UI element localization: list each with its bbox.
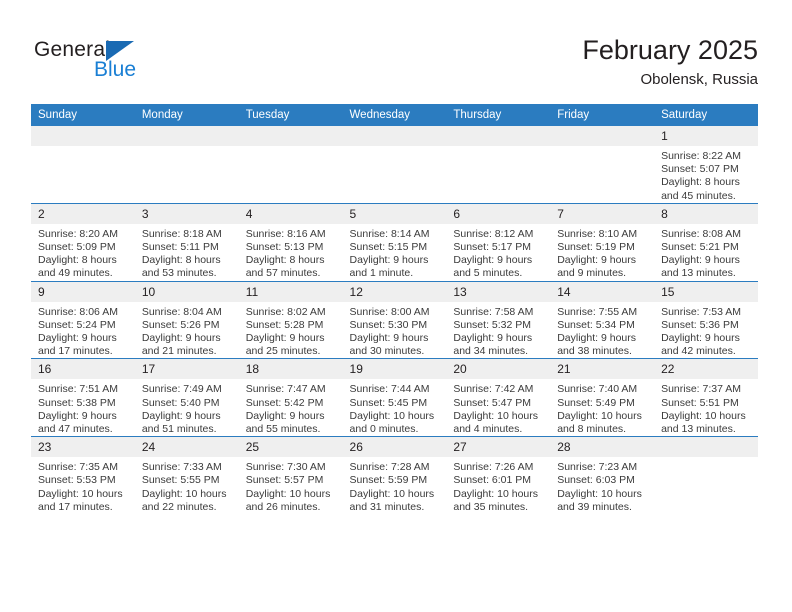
calendar-day-cell[interactable]: 17Sunrise: 7:49 AMSunset: 5:40 PMDayligh… bbox=[135, 359, 239, 437]
calendar-day-cell[interactable]: 20Sunrise: 7:42 AMSunset: 5:47 PMDayligh… bbox=[446, 359, 550, 437]
day-details: Sunrise: 7:58 AMSunset: 5:32 PMDaylight:… bbox=[446, 302, 550, 359]
day-number: 21 bbox=[550, 359, 654, 379]
day-details: Sunrise: 7:44 AMSunset: 5:45 PMDaylight:… bbox=[343, 379, 447, 436]
sunset-text: Sunset: 5:45 PM bbox=[350, 397, 442, 410]
day-number: 1 bbox=[654, 126, 758, 146]
day-number: 17 bbox=[135, 359, 239, 379]
daylight-text-line2: and 21 minutes. bbox=[142, 345, 234, 358]
daylight-text-line1: Daylight: 9 hours bbox=[557, 254, 649, 267]
sunset-text: Sunset: 5:32 PM bbox=[453, 319, 545, 332]
calendar-body: 1Sunrise: 8:22 AMSunset: 5:07 PMDaylight… bbox=[31, 126, 758, 514]
daylight-text-line1: Daylight: 10 hours bbox=[38, 488, 130, 501]
sunset-text: Sunset: 5:51 PM bbox=[661, 397, 753, 410]
daylight-text-line2: and 8 minutes. bbox=[557, 423, 649, 436]
calendar-page: General Blue February 2025 Obolensk, Rus… bbox=[0, 0, 792, 612]
daylight-text-line2: and 13 minutes. bbox=[661, 423, 753, 436]
calendar-day-cell[interactable]: 6Sunrise: 8:12 AMSunset: 5:17 PMDaylight… bbox=[446, 203, 550, 281]
calendar-day-cell[interactable]: 25Sunrise: 7:30 AMSunset: 5:57 PMDayligh… bbox=[239, 437, 343, 514]
sunrise-text: Sunrise: 8:18 AM bbox=[142, 228, 234, 241]
calendar-cell-empty bbox=[135, 126, 239, 203]
weekday-header-saturday: Saturday bbox=[654, 104, 758, 126]
daylight-text-line2: and 9 minutes. bbox=[557, 267, 649, 280]
location-subtitle: Obolensk, Russia bbox=[582, 70, 758, 90]
day-details: Sunrise: 8:20 AMSunset: 5:09 PMDaylight:… bbox=[31, 224, 135, 281]
sunrise-text: Sunrise: 7:55 AM bbox=[557, 306, 649, 319]
day-number: 12 bbox=[343, 282, 447, 302]
daylight-text-line2: and 53 minutes. bbox=[142, 267, 234, 280]
calendar-day-cell[interactable]: 8Sunrise: 8:08 AMSunset: 5:21 PMDaylight… bbox=[654, 203, 758, 281]
day-details: Sunrise: 7:49 AMSunset: 5:40 PMDaylight:… bbox=[135, 379, 239, 436]
calendar-day-cell[interactable]: 11Sunrise: 8:02 AMSunset: 5:28 PMDayligh… bbox=[239, 281, 343, 359]
day-details: Sunrise: 8:16 AMSunset: 5:13 PMDaylight:… bbox=[239, 224, 343, 281]
calendar-cell-empty bbox=[446, 126, 550, 203]
calendar-day-cell[interactable]: 26Sunrise: 7:28 AMSunset: 5:59 PMDayligh… bbox=[343, 437, 447, 514]
weekday-header-friday: Friday bbox=[550, 104, 654, 126]
sunrise-text: Sunrise: 8:04 AM bbox=[142, 306, 234, 319]
calendar-day-cell[interactable]: 18Sunrise: 7:47 AMSunset: 5:42 PMDayligh… bbox=[239, 359, 343, 437]
day-number bbox=[239, 126, 343, 146]
weekday-header-thursday: Thursday bbox=[446, 104, 550, 126]
sunset-text: Sunset: 5:34 PM bbox=[557, 319, 649, 332]
daylight-text-line2: and 30 minutes. bbox=[350, 345, 442, 358]
day-number bbox=[550, 126, 654, 146]
day-number bbox=[654, 437, 758, 457]
day-details: Sunrise: 8:12 AMSunset: 5:17 PMDaylight:… bbox=[446, 224, 550, 281]
daylight-text-line1: Daylight: 9 hours bbox=[661, 254, 753, 267]
sunrise-text: Sunrise: 7:40 AM bbox=[557, 383, 649, 396]
calendar-day-cell[interactable]: 22Sunrise: 7:37 AMSunset: 5:51 PMDayligh… bbox=[654, 359, 758, 437]
calendar-cell-empty bbox=[654, 437, 758, 514]
page-title: February 2025 bbox=[582, 34, 758, 66]
sunset-text: Sunset: 6:01 PM bbox=[453, 474, 545, 487]
daylight-text-line2: and 38 minutes. bbox=[557, 345, 649, 358]
daylight-text-line2: and 26 minutes. bbox=[246, 501, 338, 514]
day-number bbox=[446, 126, 550, 146]
day-number: 3 bbox=[135, 204, 239, 224]
daylight-text-line1: Daylight: 9 hours bbox=[142, 332, 234, 345]
day-details: Sunrise: 7:40 AMSunset: 5:49 PMDaylight:… bbox=[550, 379, 654, 436]
daylight-text-line1: Daylight: 8 hours bbox=[246, 254, 338, 267]
daylight-text-line1: Daylight: 9 hours bbox=[350, 254, 442, 267]
daylight-text-line2: and 17 minutes. bbox=[38, 501, 130, 514]
day-number: 7 bbox=[550, 204, 654, 224]
sunset-text: Sunset: 5:57 PM bbox=[246, 474, 338, 487]
sunset-text: Sunset: 5:07 PM bbox=[661, 163, 753, 176]
calendar-cell-empty bbox=[31, 126, 135, 203]
day-number: 15 bbox=[654, 282, 758, 302]
page-header: General Blue February 2025 Obolensk, Rus… bbox=[0, 0, 792, 100]
daylight-text-line2: and 51 minutes. bbox=[142, 423, 234, 436]
sunrise-text: Sunrise: 8:14 AM bbox=[350, 228, 442, 241]
weekday-header-tuesday: Tuesday bbox=[239, 104, 343, 126]
day-details: Sunrise: 7:42 AMSunset: 5:47 PMDaylight:… bbox=[446, 379, 550, 436]
sunset-text: Sunset: 5:24 PM bbox=[38, 319, 130, 332]
day-details: Sunrise: 8:10 AMSunset: 5:19 PMDaylight:… bbox=[550, 224, 654, 281]
weekday-header-monday: Monday bbox=[135, 104, 239, 126]
day-number: 11 bbox=[239, 282, 343, 302]
calendar-day-cell[interactable]: 21Sunrise: 7:40 AMSunset: 5:49 PMDayligh… bbox=[550, 359, 654, 437]
logo-text-blue: Blue bbox=[94, 58, 136, 82]
day-details: Sunrise: 7:28 AMSunset: 5:59 PMDaylight:… bbox=[343, 457, 447, 514]
daylight-text-line1: Daylight: 9 hours bbox=[557, 332, 649, 345]
sunrise-text: Sunrise: 7:35 AM bbox=[38, 461, 130, 474]
daylight-text-line2: and 42 minutes. bbox=[661, 345, 753, 358]
daylight-text-line1: Daylight: 10 hours bbox=[557, 410, 649, 423]
daylight-text-line2: and 35 minutes. bbox=[453, 501, 545, 514]
sunrise-text: Sunrise: 7:47 AM bbox=[246, 383, 338, 396]
calendar-day-cell[interactable]: 9Sunrise: 8:06 AMSunset: 5:24 PMDaylight… bbox=[31, 281, 135, 359]
calendar-day-cell[interactable]: 27Sunrise: 7:26 AMSunset: 6:01 PMDayligh… bbox=[446, 437, 550, 514]
daylight-text-line2: and 4 minutes. bbox=[453, 423, 545, 436]
daylight-text-line2: and 55 minutes. bbox=[246, 423, 338, 436]
sunrise-text: Sunrise: 7:28 AM bbox=[350, 461, 442, 474]
sunset-text: Sunset: 5:47 PM bbox=[453, 397, 545, 410]
sunset-text: Sunset: 5:55 PM bbox=[142, 474, 234, 487]
day-details: Sunrise: 7:26 AMSunset: 6:01 PMDaylight:… bbox=[446, 457, 550, 514]
daylight-text-line1: Daylight: 9 hours bbox=[142, 410, 234, 423]
calendar-cell-empty bbox=[343, 126, 447, 203]
calendar-week-row: 23Sunrise: 7:35 AMSunset: 5:53 PMDayligh… bbox=[31, 437, 758, 514]
sunset-text: Sunset: 5:42 PM bbox=[246, 397, 338, 410]
sunrise-text: Sunrise: 8:10 AM bbox=[557, 228, 649, 241]
daylight-text-line1: Daylight: 10 hours bbox=[453, 488, 545, 501]
day-number: 10 bbox=[135, 282, 239, 302]
day-number: 5 bbox=[343, 204, 447, 224]
sunrise-text: Sunrise: 8:00 AM bbox=[350, 306, 442, 319]
daylight-text-line1: Daylight: 10 hours bbox=[557, 488, 649, 501]
day-number: 14 bbox=[550, 282, 654, 302]
day-details: Sunrise: 8:18 AMSunset: 5:11 PMDaylight:… bbox=[135, 224, 239, 281]
day-details: Sunrise: 7:47 AMSunset: 5:42 PMDaylight:… bbox=[239, 379, 343, 436]
day-details: Sunrise: 8:08 AMSunset: 5:21 PMDaylight:… bbox=[654, 224, 758, 281]
sunset-text: Sunset: 5:59 PM bbox=[350, 474, 442, 487]
daylight-text-line1: Daylight: 9 hours bbox=[246, 410, 338, 423]
daylight-text-line1: Daylight: 9 hours bbox=[38, 332, 130, 345]
day-number: 8 bbox=[654, 204, 758, 224]
daylight-text-line2: and 31 minutes. bbox=[350, 501, 442, 514]
day-details: Sunrise: 8:06 AMSunset: 5:24 PMDaylight:… bbox=[31, 302, 135, 359]
daylight-text-line1: Daylight: 8 hours bbox=[661, 176, 753, 189]
day-number: 9 bbox=[31, 282, 135, 302]
sunset-text: Sunset: 5:11 PM bbox=[142, 241, 234, 254]
calendar-day-cell[interactable]: 3Sunrise: 8:18 AMSunset: 5:11 PMDaylight… bbox=[135, 203, 239, 281]
sunset-text: Sunset: 5:28 PM bbox=[246, 319, 338, 332]
daylight-text-line2: and 34 minutes. bbox=[453, 345, 545, 358]
calendar-day-cell[interactable]: 14Sunrise: 7:55 AMSunset: 5:34 PMDayligh… bbox=[550, 281, 654, 359]
calendar-day-cell[interactable]: 1Sunrise: 8:22 AMSunset: 5:07 PMDaylight… bbox=[654, 126, 758, 203]
calendar-week-row: 1Sunrise: 8:22 AMSunset: 5:07 PMDaylight… bbox=[31, 126, 758, 203]
calendar-day-cell[interactable]: 24Sunrise: 7:33 AMSunset: 5:55 PMDayligh… bbox=[135, 437, 239, 514]
sunset-text: Sunset: 5:53 PM bbox=[38, 474, 130, 487]
sunrise-text: Sunrise: 8:20 AM bbox=[38, 228, 130, 241]
day-number: 16 bbox=[31, 359, 135, 379]
day-details: Sunrise: 8:02 AMSunset: 5:28 PMDaylight:… bbox=[239, 302, 343, 359]
sunset-text: Sunset: 5:19 PM bbox=[557, 241, 649, 254]
title-block: February 2025 Obolensk, Russia bbox=[582, 34, 758, 90]
calendar-week-row: 9Sunrise: 8:06 AMSunset: 5:24 PMDaylight… bbox=[31, 281, 758, 359]
sunrise-text: Sunrise: 8:08 AM bbox=[661, 228, 753, 241]
calendar-day-cell[interactable]: 2Sunrise: 8:20 AMSunset: 5:09 PMDaylight… bbox=[31, 203, 135, 281]
daylight-text-line1: Daylight: 9 hours bbox=[38, 410, 130, 423]
sunset-text: Sunset: 5:49 PM bbox=[557, 397, 649, 410]
day-details: Sunrise: 8:14 AMSunset: 5:15 PMDaylight:… bbox=[343, 224, 447, 281]
day-number: 20 bbox=[446, 359, 550, 379]
day-details: Sunrise: 7:30 AMSunset: 5:57 PMDaylight:… bbox=[239, 457, 343, 514]
daylight-text-line2: and 45 minutes. bbox=[661, 190, 753, 203]
weekday-header-wednesday: Wednesday bbox=[343, 104, 447, 126]
sunset-text: Sunset: 5:17 PM bbox=[453, 241, 545, 254]
daylight-text-line1: Daylight: 9 hours bbox=[453, 332, 545, 345]
daylight-text-line1: Daylight: 9 hours bbox=[350, 332, 442, 345]
day-details: Sunrise: 7:35 AMSunset: 5:53 PMDaylight:… bbox=[31, 457, 135, 514]
sunset-text: Sunset: 5:21 PM bbox=[661, 241, 753, 254]
calendar-week-row: 2Sunrise: 8:20 AMSunset: 5:09 PMDaylight… bbox=[31, 203, 758, 281]
sunrise-text: Sunrise: 7:51 AM bbox=[38, 383, 130, 396]
daylight-text-line1: Daylight: 10 hours bbox=[142, 488, 234, 501]
sunrise-text: Sunrise: 7:37 AM bbox=[661, 383, 753, 396]
sunrise-text: Sunrise: 7:33 AM bbox=[142, 461, 234, 474]
day-details: Sunrise: 8:00 AMSunset: 5:30 PMDaylight:… bbox=[343, 302, 447, 359]
calendar-day-cell[interactable]: 13Sunrise: 7:58 AMSunset: 5:32 PMDayligh… bbox=[446, 281, 550, 359]
daylight-text-line2: and 0 minutes. bbox=[350, 423, 442, 436]
calendar-day-cell[interactable]: 10Sunrise: 8:04 AMSunset: 5:26 PMDayligh… bbox=[135, 281, 239, 359]
daylight-text-line2: and 25 minutes. bbox=[246, 345, 338, 358]
sunrise-text: Sunrise: 7:44 AM bbox=[350, 383, 442, 396]
daylight-text-line1: Daylight: 9 hours bbox=[246, 332, 338, 345]
general-blue-logo[interactable]: General Blue bbox=[34, 38, 234, 88]
sunrise-text: Sunrise: 7:49 AM bbox=[142, 383, 234, 396]
daylight-text-line2: and 1 minute. bbox=[350, 267, 442, 280]
daylight-text-line1: Daylight: 8 hours bbox=[38, 254, 130, 267]
calendar-cell-empty bbox=[550, 126, 654, 203]
daylight-text-line2: and 49 minutes. bbox=[38, 267, 130, 280]
day-number bbox=[343, 126, 447, 146]
daylight-text-line2: and 17 minutes. bbox=[38, 345, 130, 358]
daylight-text-line2: and 47 minutes. bbox=[38, 423, 130, 436]
sunrise-text: Sunrise: 7:53 AM bbox=[661, 306, 753, 319]
daylight-text-line2: and 57 minutes. bbox=[246, 267, 338, 280]
sunset-text: Sunset: 5:13 PM bbox=[246, 241, 338, 254]
day-number: 23 bbox=[31, 437, 135, 457]
day-number: 13 bbox=[446, 282, 550, 302]
day-number: 6 bbox=[446, 204, 550, 224]
day-number: 2 bbox=[31, 204, 135, 224]
daylight-text-line2: and 5 minutes. bbox=[453, 267, 545, 280]
sunrise-text: Sunrise: 7:23 AM bbox=[557, 461, 649, 474]
daylight-text-line1: Daylight: 10 hours bbox=[350, 410, 442, 423]
day-details: Sunrise: 7:51 AMSunset: 5:38 PMDaylight:… bbox=[31, 379, 135, 436]
daylight-text-line2: and 22 minutes. bbox=[142, 501, 234, 514]
day-number bbox=[135, 126, 239, 146]
calendar-day-cell[interactable]: 19Sunrise: 7:44 AMSunset: 5:45 PMDayligh… bbox=[343, 359, 447, 437]
calendar-day-cell[interactable]: 16Sunrise: 7:51 AMSunset: 5:38 PMDayligh… bbox=[31, 359, 135, 437]
day-number: 27 bbox=[446, 437, 550, 457]
calendar-cell-empty bbox=[239, 126, 343, 203]
daylight-text-line1: Daylight: 9 hours bbox=[661, 332, 753, 345]
day-details: Sunrise: 7:33 AMSunset: 5:55 PMDaylight:… bbox=[135, 457, 239, 514]
sunrise-text: Sunrise: 7:26 AM bbox=[453, 461, 545, 474]
day-number: 24 bbox=[135, 437, 239, 457]
daylight-text-line1: Daylight: 10 hours bbox=[246, 488, 338, 501]
sunrise-text: Sunrise: 7:58 AM bbox=[453, 306, 545, 319]
calendar-header-row: Sunday Monday Tuesday Wednesday Thursday… bbox=[31, 104, 758, 126]
day-details: Sunrise: 8:04 AMSunset: 5:26 PMDaylight:… bbox=[135, 302, 239, 359]
day-number: 28 bbox=[550, 437, 654, 457]
day-details: Sunrise: 8:22 AMSunset: 5:07 PMDaylight:… bbox=[654, 146, 758, 203]
day-number: 18 bbox=[239, 359, 343, 379]
sunrise-text: Sunrise: 7:30 AM bbox=[246, 461, 338, 474]
day-number bbox=[31, 126, 135, 146]
calendar-day-cell[interactable]: 12Sunrise: 8:00 AMSunset: 5:30 PMDayligh… bbox=[343, 281, 447, 359]
day-number: 26 bbox=[343, 437, 447, 457]
sunset-text: Sunset: 5:09 PM bbox=[38, 241, 130, 254]
calendar-table: Sunday Monday Tuesday Wednesday Thursday… bbox=[31, 104, 758, 514]
sunrise-text: Sunrise: 8:02 AM bbox=[246, 306, 338, 319]
sunset-text: Sunset: 5:36 PM bbox=[661, 319, 753, 332]
day-details: Sunrise: 7:37 AMSunset: 5:51 PMDaylight:… bbox=[654, 379, 758, 436]
daylight-text-line1: Daylight: 9 hours bbox=[453, 254, 545, 267]
sunrise-text: Sunrise: 8:22 AM bbox=[661, 150, 753, 163]
day-details: Sunrise: 7:53 AMSunset: 5:36 PMDaylight:… bbox=[654, 302, 758, 359]
daylight-text-line2: and 39 minutes. bbox=[557, 501, 649, 514]
sunset-text: Sunset: 5:30 PM bbox=[350, 319, 442, 332]
sunset-text: Sunset: 6:03 PM bbox=[557, 474, 649, 487]
day-number: 22 bbox=[654, 359, 758, 379]
calendar-day-cell[interactable]: 7Sunrise: 8:10 AMSunset: 5:19 PMDaylight… bbox=[550, 203, 654, 281]
sunset-text: Sunset: 5:15 PM bbox=[350, 241, 442, 254]
daylight-text-line1: Daylight: 10 hours bbox=[453, 410, 545, 423]
sunrise-text: Sunrise: 8:16 AM bbox=[246, 228, 338, 241]
day-number: 19 bbox=[343, 359, 447, 379]
day-details: Sunrise: 7:23 AMSunset: 6:03 PMDaylight:… bbox=[550, 457, 654, 514]
sunset-text: Sunset: 5:40 PM bbox=[142, 397, 234, 410]
sunrise-text: Sunrise: 7:42 AM bbox=[453, 383, 545, 396]
calendar-day-cell[interactable]: 28Sunrise: 7:23 AMSunset: 6:03 PMDayligh… bbox=[550, 437, 654, 514]
daylight-text-line1: Daylight: 10 hours bbox=[350, 488, 442, 501]
day-number: 25 bbox=[239, 437, 343, 457]
calendar-day-cell[interactable]: 15Sunrise: 7:53 AMSunset: 5:36 PMDayligh… bbox=[654, 281, 758, 359]
daylight-text-line2: and 13 minutes. bbox=[661, 267, 753, 280]
sunrise-text: Sunrise: 8:06 AM bbox=[38, 306, 130, 319]
day-details: Sunrise: 7:55 AMSunset: 5:34 PMDaylight:… bbox=[550, 302, 654, 359]
daylight-text-line1: Daylight: 8 hours bbox=[142, 254, 234, 267]
calendar-day-cell[interactable]: 4Sunrise: 8:16 AMSunset: 5:13 PMDaylight… bbox=[239, 203, 343, 281]
sunset-text: Sunset: 5:38 PM bbox=[38, 397, 130, 410]
sunrise-text: Sunrise: 8:12 AM bbox=[453, 228, 545, 241]
calendar-day-cell[interactable]: 23Sunrise: 7:35 AMSunset: 5:53 PMDayligh… bbox=[31, 437, 135, 514]
calendar-week-row: 16Sunrise: 7:51 AMSunset: 5:38 PMDayligh… bbox=[31, 359, 758, 437]
weekday-header-sunday: Sunday bbox=[31, 104, 135, 126]
day-number: 4 bbox=[239, 204, 343, 224]
daylight-text-line1: Daylight: 10 hours bbox=[661, 410, 753, 423]
sunset-text: Sunset: 5:26 PM bbox=[142, 319, 234, 332]
calendar-day-cell[interactable]: 5Sunrise: 8:14 AMSunset: 5:15 PMDaylight… bbox=[343, 203, 447, 281]
